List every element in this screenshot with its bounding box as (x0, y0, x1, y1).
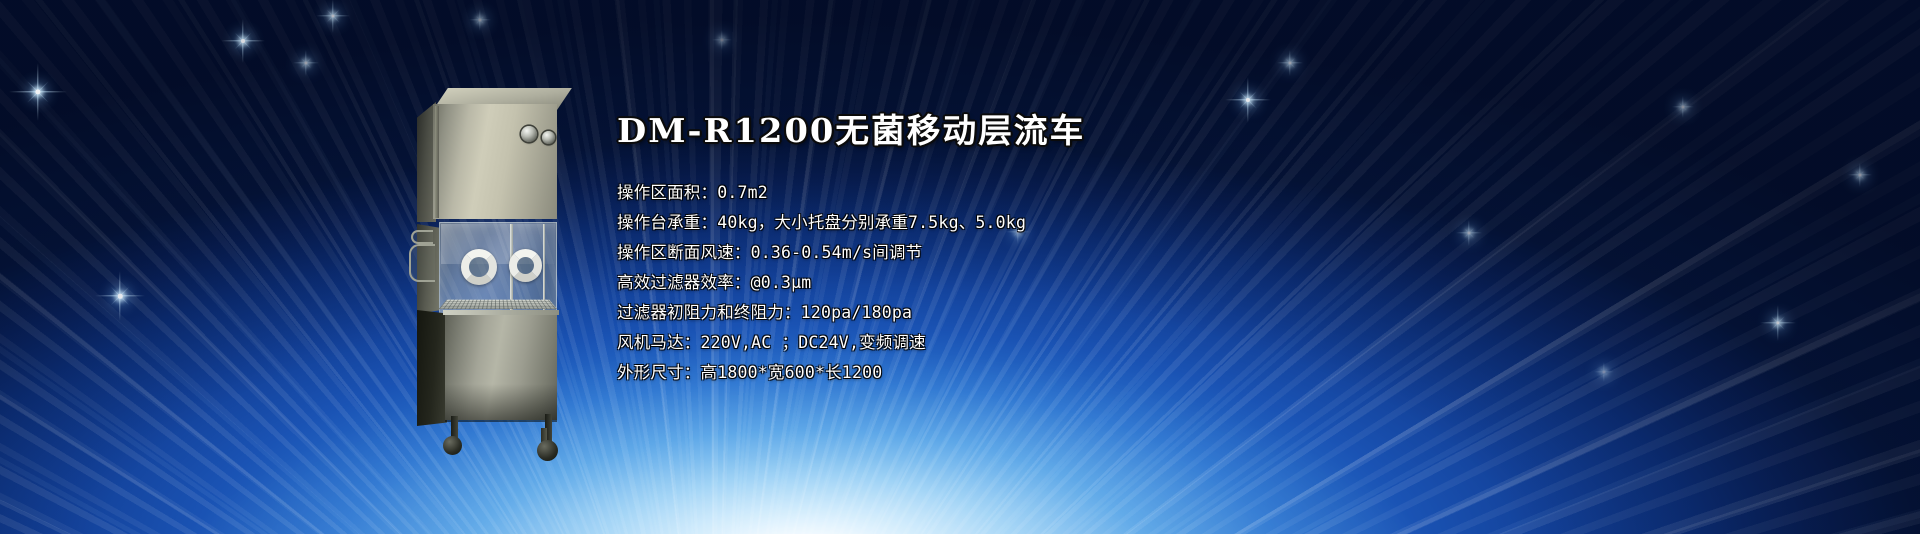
glove-port-icon (461, 249, 497, 285)
cabinet-side-panel (417, 310, 447, 426)
caster-wheel-icon (443, 436, 462, 455)
cabinet-top-lip (443, 310, 559, 315)
cabinet-shadow (445, 384, 557, 422)
product-spec-line: 风机马达：220V,AC ；DC24V,变频调速 (617, 328, 1377, 358)
product-text-block: DM-R1200无菌移动层流车 操作区面积：0.7m2操作台承重：40kg，大小… (617, 112, 1377, 388)
product-spec-line: 操作区面积：0.7m2 (617, 178, 1377, 208)
chamber-handle (409, 244, 435, 282)
chamber-handle (411, 230, 433, 244)
caster-wheel-icon (537, 440, 558, 461)
pressure-gauge-icon (521, 126, 537, 142)
product-spec-line: 操作台承重：40kg，大小托盘分别承重7.5kg、5.0kg (617, 208, 1377, 238)
product-title: DM-R1200无菌移动层流车 (617, 112, 1392, 151)
glove-port-icon (509, 249, 542, 282)
product-spec-line: 操作区断面风速：0.36-0.54m/s间调节 (617, 238, 1377, 268)
hood-side-edge (435, 106, 439, 218)
perforated-work-deck (439, 300, 558, 309)
hood-front-panel (433, 104, 557, 219)
product-spec-list: 操作区面积：0.7m2操作台承重：40kg，大小托盘分别承重7.5kg、5.0k… (617, 178, 1377, 388)
product-image (415, 84, 575, 404)
pressure-gauge-icon (542, 131, 555, 144)
product-spec-line: 过滤器初阻力和终阻力：120pa/180pa (617, 298, 1377, 328)
product-banner: DM-R1200无菌移动层流车 操作区面积：0.7m2操作台承重：40kg，大小… (0, 0, 1920, 534)
product-spec-line: 高效过滤器效率：@0.3μm (617, 268, 1377, 298)
product-spec-line: 外形尺寸：高1800*宽600*长1200 (617, 358, 1377, 388)
